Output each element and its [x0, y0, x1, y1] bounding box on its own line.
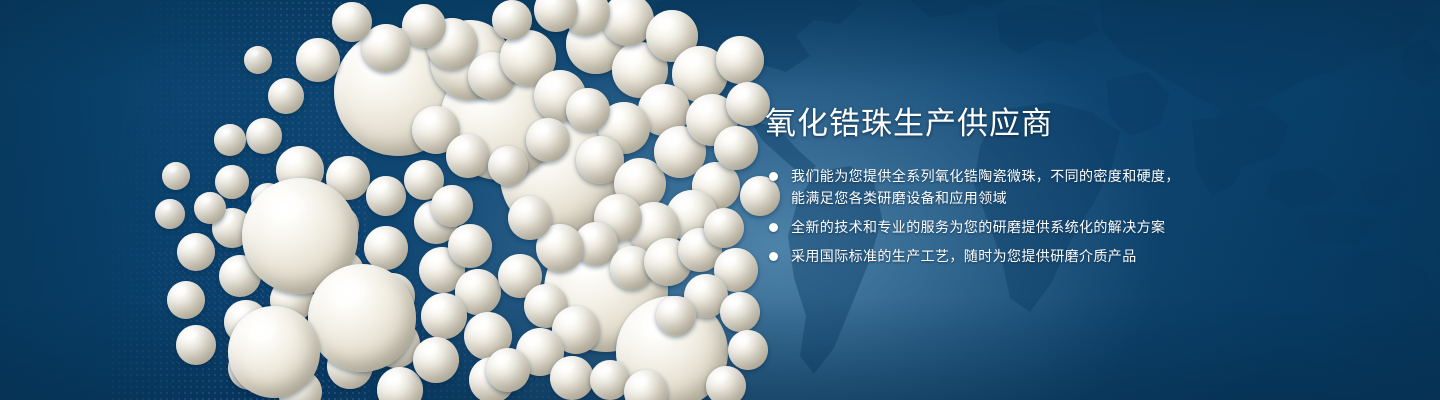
hero-banner: 氧化锆珠生产供应商 我们能为您提供全系列氧化锆陶瓷微珠，不同的密度和硬度， 能满…: [0, 0, 1440, 400]
bullet-dot-icon: [769, 223, 778, 232]
list-item-line-2: 能满足您各类研磨设备和应用领域: [791, 187, 1285, 209]
feature-list: 我们能为您提供全系列氧化锆陶瓷微珠，不同的密度和硬度， 能满足您各类研磨设备和应…: [765, 165, 1285, 267]
list-item-line-1: 全新的技术和专业的服务为您的研磨提供系统化的解决方案: [791, 219, 1165, 235]
list-item: 采用国际标准的生产工艺，随时为您提供研磨介质产品: [765, 245, 1285, 267]
banner-copy: 氧化锆珠生产供应商 我们能为您提供全系列氧化锆陶瓷微珠，不同的密度和硬度， 能满…: [765, 104, 1285, 267]
bullet-dot-icon: [769, 172, 778, 181]
list-item: 我们能为您提供全系列氧化锆陶瓷微珠，不同的密度和硬度， 能满足您各类研磨设备和应…: [765, 165, 1285, 209]
list-item: 全新的技术和专业的服务为您的研磨提供系统化的解决方案: [765, 216, 1285, 238]
list-item-line-1: 采用国际标准的生产工艺，随时为您提供研磨介质产品: [791, 248, 1137, 264]
page-title: 氧化锆珠生产供应商: [765, 104, 1285, 144]
list-item-line-1: 我们能为您提供全系列氧化锆陶瓷微珠，不同的密度和硬度，: [791, 168, 1180, 184]
bullet-dot-icon: [769, 252, 778, 261]
